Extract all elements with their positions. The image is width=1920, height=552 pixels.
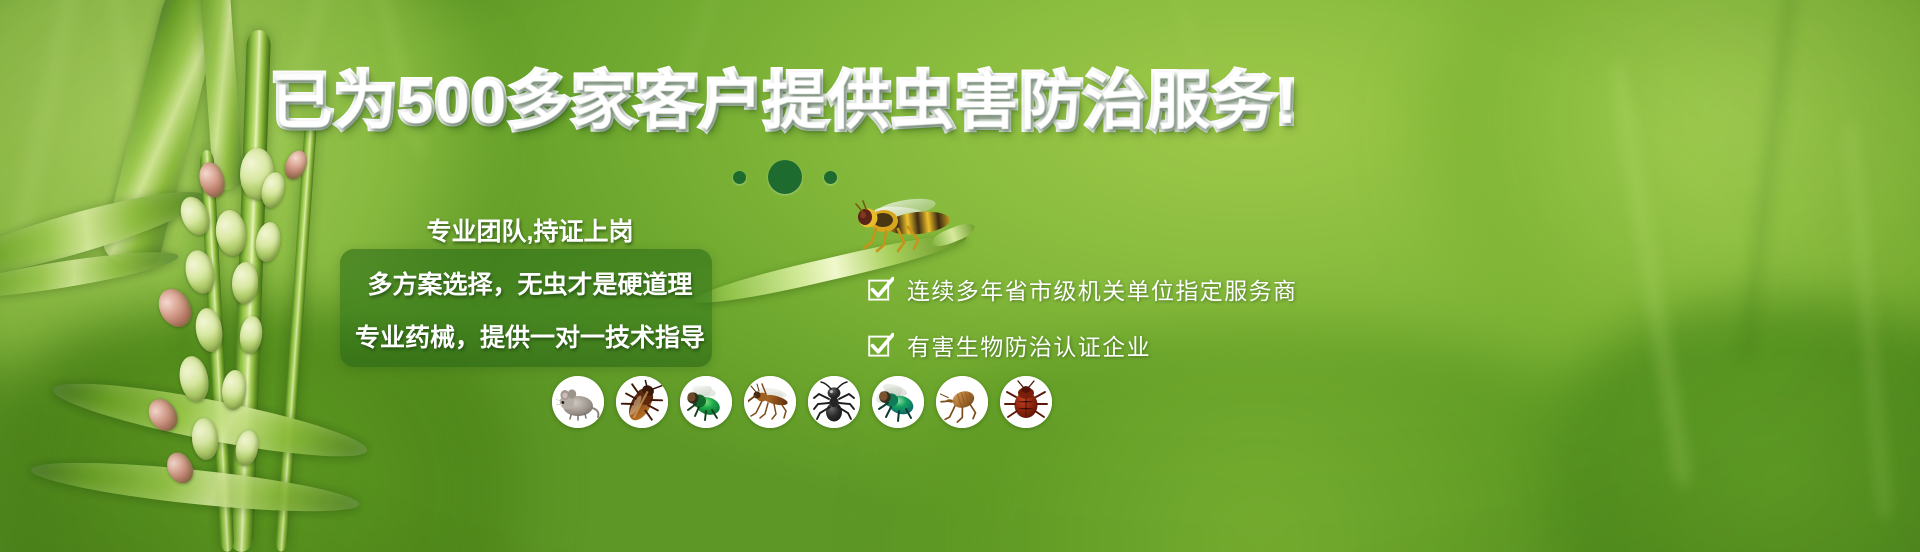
flea-icon[interactable] [936,376,988,428]
checkbox-checked-icon [868,276,894,302]
pest-icon-row [552,376,1052,428]
checklist-item-label: 有害生物防治认证企业 [907,328,1151,362]
green-bottle-fly-icon[interactable] [680,376,732,428]
divider-dot-large-center [768,160,802,194]
bedbug-tick-icon[interactable] [1000,376,1052,428]
blue-blowfly-icon[interactable] [872,376,924,428]
slogan-line-3: 专业药械，提供一对一技术指导 [355,318,705,354]
slogan-line-1: 专业团队,持证上岗 [427,212,634,248]
cockroach-icon[interactable] [616,376,668,428]
promo-banner: 已为500多家客户提供虫害防治服务! 专业团队,持证上岗 多方案选择，无虫才是硬… [0,0,1920,552]
divider-dots [0,160,1570,194]
headline-text: 已为500多家客户提供虫害防治服务! [271,68,1299,137]
checklist-item-label: 连续多年省市级机关单位指定服务商 [907,272,1297,306]
checklist-item: 有害生物防治认证企业 [868,328,1297,362]
hoverfly-icon [850,196,968,258]
rodent-mouse-icon[interactable] [552,376,604,428]
checkbox-checked-icon [868,332,894,358]
mosquito-icon[interactable] [744,376,796,428]
ant-icon[interactable] [808,376,860,428]
slogan-line-2: 多方案选择，无虫才是硬道理 [367,265,692,301]
checklist-item: 连续多年省市级机关单位指定服务商 [868,272,1297,306]
feature-checklist: 连续多年省市级机关单位指定服务商 有害生物防治认证企业 [868,272,1297,362]
headline: 已为500多家客户提供虫害防治服务! [0,72,1570,134]
divider-dot-small-left [733,171,746,184]
divider-dot-small-right [824,171,837,184]
slogan-list: 专业团队,持证上岗 多方案选择，无虫才是硬道理 专业药械，提供一对一技术指导 [340,212,720,354]
